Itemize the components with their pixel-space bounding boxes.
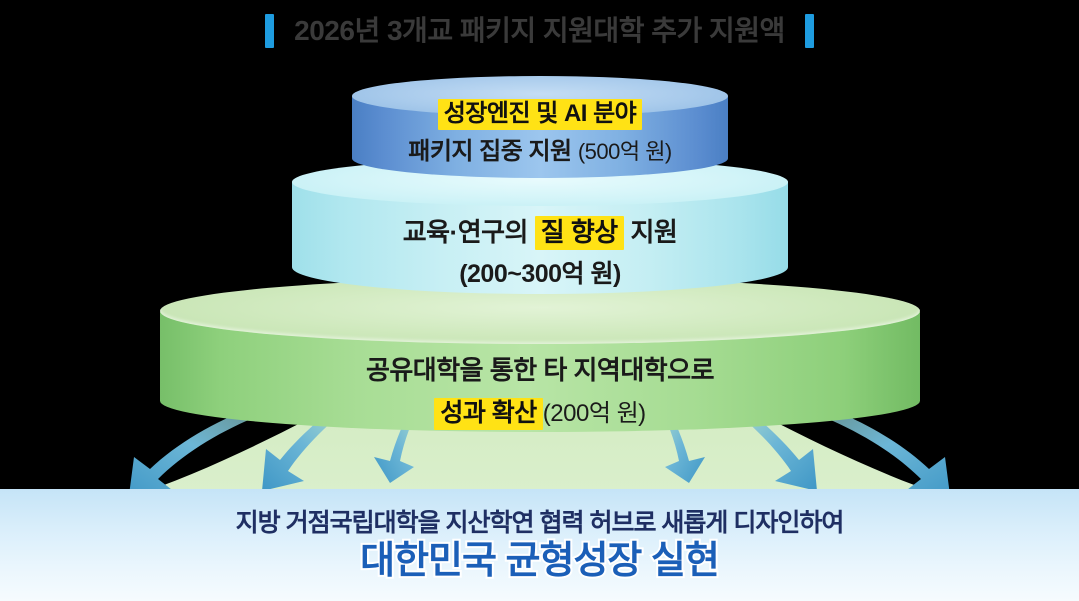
tier-bottom-text: 공유대학을 통한 타 지역대학으로 성과 확산(200억 원) <box>160 356 920 428</box>
tier-bottom-amount: (200억 원) <box>543 400 646 427</box>
tier-middle-amount: (200~300억 원) <box>292 260 788 289</box>
tier-top-amount: (500억 원) <box>578 139 672 164</box>
tier-middle-line1: 교육·연구의 질 향상 지원 <box>292 218 788 248</box>
pyramid-tier-top: 성장엔진 및 AI 분야 패키지 집중 지원 (500억 원) <box>352 76 728 184</box>
banner-line-2: 대한민국 균형성장 실현 <box>360 542 719 580</box>
tier-top-line1: 성장엔진 및 AI 분야 <box>352 100 728 128</box>
title-bar-right <box>805 14 814 48</box>
tier-bottom-highlight: 성과 확산 <box>434 398 542 430</box>
tier-bottom-line2: 성과 확산(200억 원) <box>160 399 920 428</box>
title-bar-left <box>265 14 274 48</box>
tier-top-highlight: 성장엔진 및 AI 분야 <box>438 99 643 130</box>
tier-top-label: 패키지 집중 지원 <box>408 138 571 165</box>
banner-line-1: 지방 거점국립대학을 지산학연 협력 허브로 새롭게 디자인하여 <box>236 511 844 536</box>
tier-bottom-line1: 공유대학을 통한 타 지역대학으로 <box>160 356 920 386</box>
tier-top-line2: 패키지 집중 지원 (500억 원) <box>352 138 728 166</box>
page-title-text: 2026년 3개교 패키지 지원대학 추가 지원액 <box>294 17 785 45</box>
tier-top-text: 성장엔진 및 AI 분야 패키지 집중 지원 (500억 원) <box>352 100 728 165</box>
page-title: 2026년 3개교 패키지 지원대학 추가 지원액 <box>0 0 1079 62</box>
tier-middle-suffix: 지원 <box>630 217 677 247</box>
tier-middle-highlight: 질 향상 <box>535 216 624 250</box>
tier-middle-prefix: 교육·연구의 <box>403 217 528 247</box>
bottom-banner: 지방 거점국립대학을 지산학연 협력 허브로 새롭게 디자인하여 대한민국 균형… <box>0 489 1079 601</box>
infographic-canvas: 2026년 3개교 패키지 지원대학 추가 지원액 <box>0 0 1079 601</box>
tier-middle-text: 교육·연구의 질 향상 지원 (200~300억 원) <box>292 218 788 289</box>
